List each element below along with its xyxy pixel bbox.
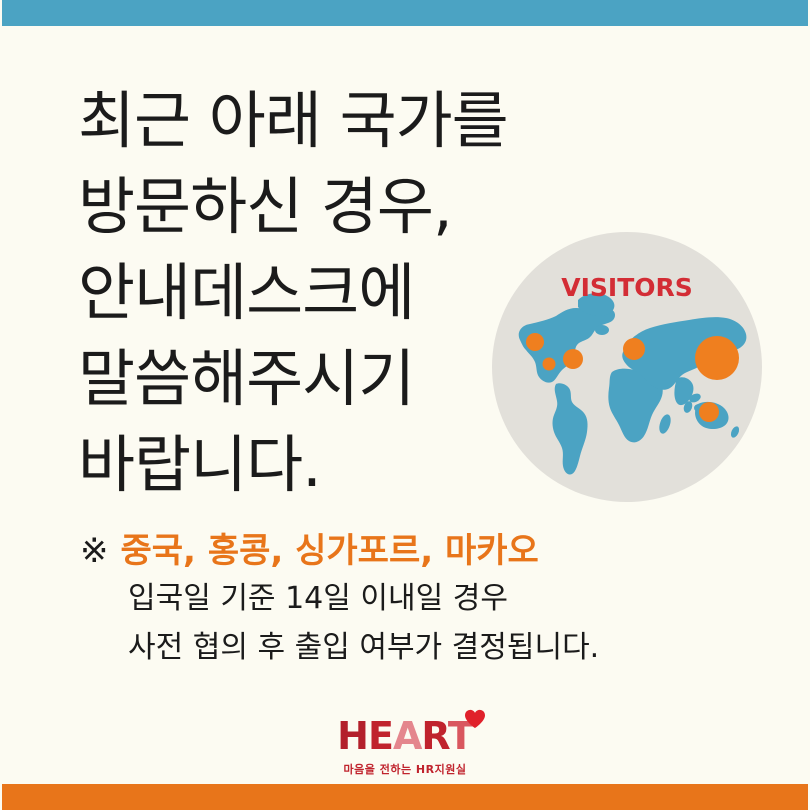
headline-line-5: 바랍니다. <box>78 422 548 508</box>
notice-country-list: 중국, 홍콩, 싱가포르, 마카오 <box>121 531 539 571</box>
marker-north-america-central <box>563 349 583 369</box>
logo-letter-a: A <box>393 714 421 758</box>
notice-details: 입국일 기준 14일 이내일 경우 사전 협의 후 출입 여부가 결정됩니다. <box>80 574 740 672</box>
logo-letter-e: E <box>368 714 393 758</box>
logo-letter-r: R <box>421 714 448 758</box>
headline-line-1: 최근 아래 국가를 <box>78 78 548 164</box>
marker-europe <box>623 338 645 360</box>
page-title: 최근 아래 국가를 방문하신 경우, 안내데스크에 말씀해주시기 바랍니다. <box>78 78 548 508</box>
notice-block: ※중국, 홍콩, 싱가포르, 마카오 입국일 기준 14일 이내일 경우 사전 … <box>80 528 740 672</box>
visitor-notice-card: 최근 아래 국가를 방문하신 경우, 안내데스크에 말씀해주시기 바랍니다. <box>0 0 810 810</box>
marker-southeast-asia <box>699 402 719 422</box>
reference-mark-icon: ※ <box>80 531 109 571</box>
marker-north-america-west <box>526 333 544 351</box>
logo-letter-h: H <box>337 714 368 758</box>
marker-north-america-southwest <box>543 358 556 371</box>
heart-icon <box>464 709 486 729</box>
headline-line-4: 말씀해주시기 <box>78 336 548 422</box>
bottom-accent-bar <box>2 784 808 810</box>
headline-line-3: 안내데스크에 <box>78 250 548 336</box>
logo-wordmark: HEART <box>337 714 473 758</box>
globe-caption: VISITORS <box>561 273 693 302</box>
notice-detail-line-2: 사전 협의 후 출입 여부가 결정됩니다. <box>128 623 740 672</box>
top-accent-bar <box>2 0 808 26</box>
logo-tagline: 마음을 전하는 HR지원실 <box>0 761 810 777</box>
brand-logo: HEART 마음을 전하는 HR지원실 <box>0 716 810 777</box>
headline-line-2: 방문하신 경우, <box>78 164 548 250</box>
logo-mark: HEART <box>337 716 473 756</box>
marker-asia-china <box>695 336 739 380</box>
notice-countries-line: ※중국, 홍콩, 싱가포르, 마카오 <box>80 528 740 574</box>
notice-detail-line-1: 입국일 기준 14일 이내일 경우 <box>128 574 740 623</box>
globe-illustration: VISITORS <box>492 232 762 502</box>
